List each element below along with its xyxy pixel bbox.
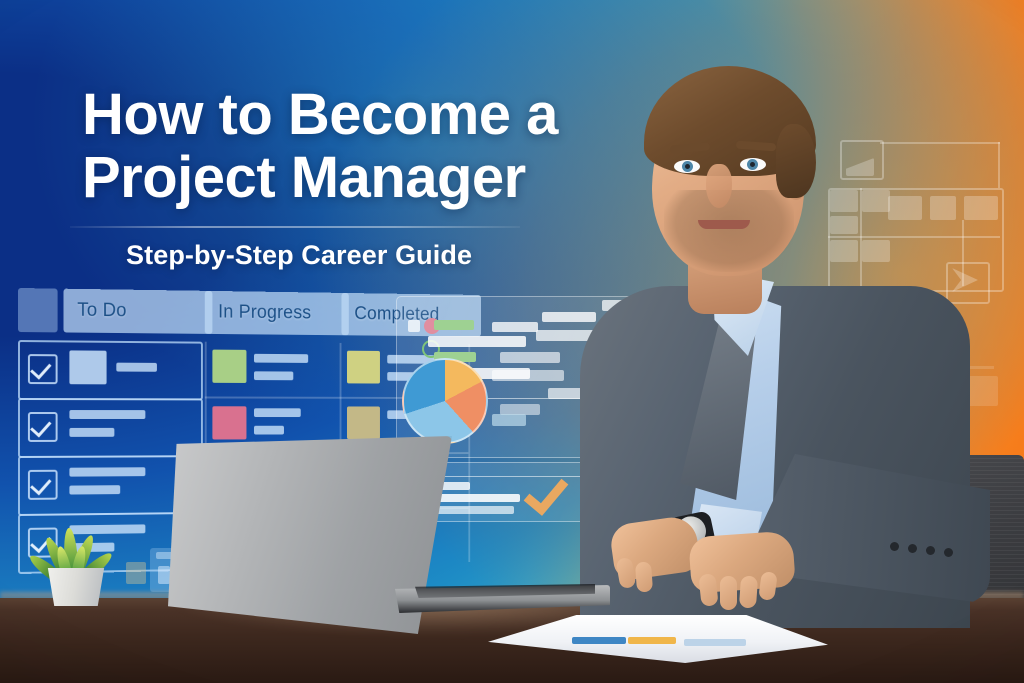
hero-banner: To Do In Progress Completed	[0, 0, 1024, 683]
vignette-overlay	[0, 0, 1024, 683]
